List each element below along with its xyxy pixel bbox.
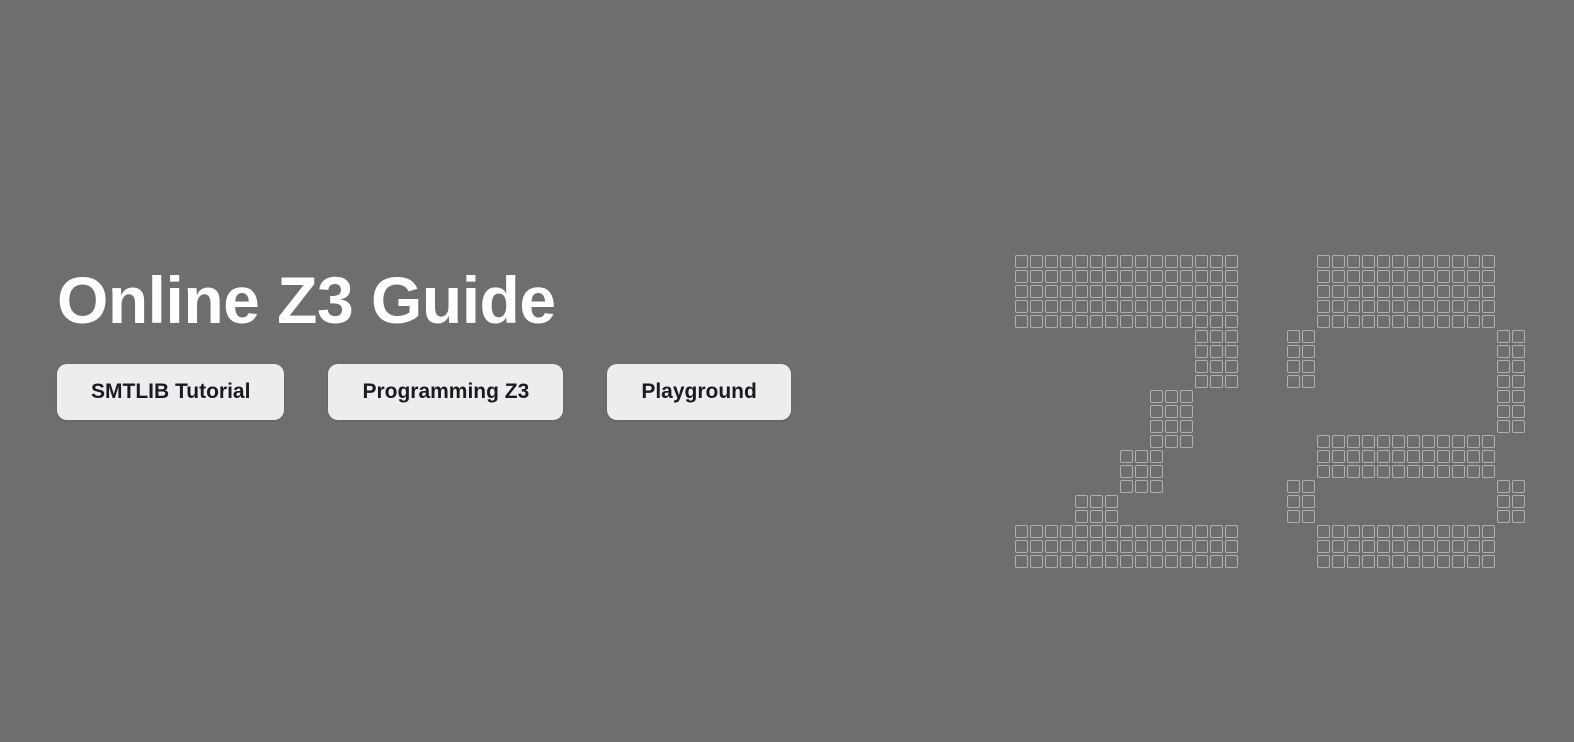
logo-pixel: [1195, 360, 1208, 373]
logo-pixel: [1362, 555, 1375, 568]
logo-pixel: [1332, 465, 1345, 478]
logo-pixel-empty: [1090, 345, 1103, 358]
logo-pixel-empty: [1210, 450, 1223, 463]
logo-pixel-empty: [1437, 495, 1450, 508]
logo-pixel: [1437, 300, 1450, 313]
logo-pixel: [1362, 300, 1375, 313]
logo-pixel-empty: [1120, 405, 1133, 418]
logo-pixel-empty: [1422, 510, 1435, 523]
logo-pixel: [1392, 300, 1405, 313]
logo-pixel: [1225, 345, 1238, 358]
logo-pixel: [1452, 435, 1465, 448]
logo-pixel-empty: [1225, 390, 1238, 403]
logo-pixel-empty: [1452, 360, 1465, 373]
logo-pixel-empty: [1317, 405, 1330, 418]
logo-pixel: [1015, 315, 1028, 328]
logo-pixel-empty: [1452, 375, 1465, 388]
logo-pixel-empty: [1362, 360, 1375, 373]
logo-pixel: [1482, 555, 1495, 568]
logo-pixel: [1347, 525, 1360, 538]
logo-pixel: [1135, 480, 1148, 493]
logo-pixel-empty: [1497, 450, 1510, 463]
logo-pixel: [1512, 405, 1525, 418]
logo-pixel: [1150, 255, 1163, 268]
logo-pixel-empty: [1452, 510, 1465, 523]
logo-pixel: [1090, 555, 1103, 568]
logo-pixel-empty: [1090, 390, 1103, 403]
logo-pixel-empty: [1392, 480, 1405, 493]
logo-pixel: [1392, 315, 1405, 328]
logo-pixel: [1317, 555, 1330, 568]
logo-pixel-empty: [1302, 420, 1315, 433]
logo-pixel: [1150, 435, 1163, 448]
logo-pixel: [1150, 315, 1163, 328]
logo-pixel-empty: [1060, 360, 1073, 373]
logo-pixel: [1392, 540, 1405, 553]
logo-pixel: [1317, 465, 1330, 478]
logo-pixel-empty: [1015, 435, 1028, 448]
logo-pixel-empty: [1105, 360, 1118, 373]
logo-pixel-empty: [1120, 375, 1133, 388]
logo-pixel-empty: [1317, 420, 1330, 433]
logo-pixel-empty: [1347, 390, 1360, 403]
logo-pixel: [1210, 555, 1223, 568]
logo-pixel-empty: [1362, 510, 1375, 523]
logo-pixel: [1287, 330, 1300, 343]
logo-pixel: [1377, 300, 1390, 313]
logo-pixel: [1210, 525, 1223, 538]
logo-glyph-z: [1015, 255, 1240, 570]
logo-pixel: [1422, 525, 1435, 538]
logo-pixel-empty: [1362, 345, 1375, 358]
logo-pixel-empty: [1317, 510, 1330, 523]
logo-pixel: [1075, 315, 1088, 328]
logo-pixel: [1135, 270, 1148, 283]
logo-pixel: [1105, 255, 1118, 268]
logo-pixel-empty: [1030, 390, 1043, 403]
logo-pixel: [1120, 450, 1133, 463]
logo-pixel: [1225, 540, 1238, 553]
logo-pixel: [1120, 255, 1133, 268]
logo-pixel-empty: [1287, 555, 1300, 568]
logo-pixel: [1392, 450, 1405, 463]
logo-pixel: [1135, 300, 1148, 313]
programming-z3-button[interactable]: Programming Z3: [328, 364, 563, 420]
logo-pixel: [1030, 555, 1043, 568]
logo-pixel-empty: [1407, 330, 1420, 343]
logo-pixel-empty: [1075, 480, 1088, 493]
logo-pixel-empty: [1482, 510, 1495, 523]
logo-pixel: [1075, 495, 1088, 508]
logo-pixel-empty: [1377, 510, 1390, 523]
logo-pixel: [1120, 465, 1133, 478]
logo-pixel: [1135, 465, 1148, 478]
logo-pixel-empty: [1422, 375, 1435, 388]
logo-pixel-empty: [1075, 420, 1088, 433]
logo-pixel: [1165, 300, 1178, 313]
logo-pixel: [1225, 360, 1238, 373]
logo-pixel: [1512, 420, 1525, 433]
logo-pixel-empty: [1287, 300, 1300, 313]
logo-pixel-empty: [1467, 420, 1480, 433]
logo-pixel: [1195, 270, 1208, 283]
logo-pixel: [1497, 495, 1510, 508]
logo-pixel-empty: [1105, 375, 1118, 388]
logo-pixel: [1422, 255, 1435, 268]
logo-pixel-empty: [1210, 435, 1223, 448]
logo-pixel: [1180, 285, 1193, 298]
logo-pixel-empty: [1135, 420, 1148, 433]
logo-pixel-empty: [1467, 375, 1480, 388]
logo-pixel-empty: [1120, 495, 1133, 508]
logo-pixel-empty: [1317, 330, 1330, 343]
logo-pixel: [1422, 270, 1435, 283]
logo-pixel-empty: [1105, 465, 1118, 478]
logo-pixel: [1512, 375, 1525, 388]
logo-glyph-z-grid: [1015, 255, 1240, 570]
logo-pixel-empty: [1165, 465, 1178, 478]
logo-pixel: [1105, 510, 1118, 523]
logo-pixel-empty: [1060, 450, 1073, 463]
logo-pixel: [1482, 285, 1495, 298]
logo-pixel-empty: [1497, 315, 1510, 328]
logo-pixel-empty: [1150, 330, 1163, 343]
logo-pixel-empty: [1422, 330, 1435, 343]
logo-pixel-empty: [1302, 255, 1315, 268]
logo-pixel: [1377, 435, 1390, 448]
logo-pixel-empty: [1497, 270, 1510, 283]
logo-pixel: [1225, 270, 1238, 283]
logo-pixel-empty: [1362, 390, 1375, 403]
logo-pixel: [1407, 435, 1420, 448]
logo-pixel: [1497, 360, 1510, 373]
logo-pixel-empty: [1302, 285, 1315, 298]
logo-pixel: [1317, 450, 1330, 463]
logo-pixel: [1165, 255, 1178, 268]
logo-pixel-empty: [1452, 345, 1465, 358]
logo-pixel-empty: [1362, 405, 1375, 418]
logo-pixel-empty: [1302, 315, 1315, 328]
logo-pixel: [1452, 555, 1465, 568]
logo-pixel-empty: [1030, 405, 1043, 418]
logo-pixel-empty: [1407, 345, 1420, 358]
logo-pixel-empty: [1317, 345, 1330, 358]
logo-pixel: [1075, 555, 1088, 568]
logo-pixel-empty: [1060, 420, 1073, 433]
logo-pixel: [1287, 495, 1300, 508]
logo-pixel-empty: [1075, 375, 1088, 388]
logo-pixel-empty: [1512, 285, 1525, 298]
logo-pixel: [1362, 285, 1375, 298]
logo-pixel-empty: [1317, 495, 1330, 508]
logo-pixel-empty: [1512, 300, 1525, 313]
logo-pixel-empty: [1302, 540, 1315, 553]
logo-pixel: [1210, 330, 1223, 343]
logo-pixel: [1045, 540, 1058, 553]
logo-pixel: [1497, 405, 1510, 418]
logo-pixel: [1195, 525, 1208, 538]
logo-pixel-empty: [1362, 330, 1375, 343]
logo-pixel-empty: [1165, 345, 1178, 358]
logo-pixel: [1452, 315, 1465, 328]
logo-pixel: [1422, 540, 1435, 553]
logo-pixel: [1347, 255, 1360, 268]
logo-pixel: [1377, 255, 1390, 268]
logo-pixel-empty: [1362, 375, 1375, 388]
logo-pixel-empty: [1225, 495, 1238, 508]
logo-pixel: [1422, 285, 1435, 298]
logo-pixel: [1332, 315, 1345, 328]
logo-pixel: [1075, 285, 1088, 298]
logo-pixel-empty: [1332, 405, 1345, 418]
logo-pixel: [1075, 300, 1088, 313]
logo-pixel: [1392, 270, 1405, 283]
logo-pixel-empty: [1437, 375, 1450, 388]
logo-pixel-empty: [1437, 390, 1450, 403]
logo-pixel: [1105, 525, 1118, 538]
logo-pixel-empty: [1407, 390, 1420, 403]
logo-pixel-empty: [1452, 390, 1465, 403]
logo-pixel-empty: [1105, 450, 1118, 463]
logo-pixel-empty: [1347, 420, 1360, 433]
logo-pixel: [1090, 315, 1103, 328]
logo-pixel-empty: [1452, 495, 1465, 508]
logo-pixel-empty: [1407, 510, 1420, 523]
logo-pixel-empty: [1497, 285, 1510, 298]
logo-pixel: [1225, 285, 1238, 298]
logo-pixel-empty: [1392, 375, 1405, 388]
logo-pixel-empty: [1407, 405, 1420, 418]
logo-pixel: [1030, 270, 1043, 283]
logo-pixel: [1150, 555, 1163, 568]
logo-pixel: [1392, 285, 1405, 298]
logo-pixel: [1437, 435, 1450, 448]
logo-pixel-empty: [1225, 405, 1238, 418]
logo-pixel: [1060, 285, 1073, 298]
logo-pixel-empty: [1287, 390, 1300, 403]
logo-pixel-empty: [1195, 420, 1208, 433]
logo-pixel-empty: [1362, 420, 1375, 433]
logo-pixel: [1437, 285, 1450, 298]
logo-pixel-empty: [1045, 480, 1058, 493]
logo-pixel-empty: [1437, 345, 1450, 358]
logo-pixel-empty: [1392, 510, 1405, 523]
logo-pixel: [1407, 270, 1420, 283]
logo-pixel-empty: [1135, 375, 1148, 388]
logo-pixel-empty: [1015, 345, 1028, 358]
logo-pixel-empty: [1422, 345, 1435, 358]
hero-text-block: Online Z3 Guide SMTLIB Tutorial Programm…: [57, 258, 957, 420]
logo-pixel-empty: [1135, 360, 1148, 373]
logo-pixel-empty: [1225, 480, 1238, 493]
hero-section: Online Z3 Guide SMTLIB Tutorial Programm…: [0, 0, 1574, 742]
logo-pixel: [1317, 285, 1330, 298]
logo-pixel: [1437, 255, 1450, 268]
logo-pixel: [1180, 315, 1193, 328]
logo-pixel: [1180, 255, 1193, 268]
logo-pixel: [1332, 270, 1345, 283]
logo-pixel-empty: [1030, 450, 1043, 463]
logo-pixel-empty: [1317, 390, 1330, 403]
logo-pixel-empty: [1030, 360, 1043, 373]
logo-pixel-empty: [1060, 405, 1073, 418]
logo-pixel-empty: [1347, 510, 1360, 523]
logo-pixel-empty: [1135, 345, 1148, 358]
logo-pixel-empty: [1060, 495, 1073, 508]
logo-pixel: [1090, 510, 1103, 523]
logo-pixel: [1105, 540, 1118, 553]
logo-pixel-empty: [1467, 405, 1480, 418]
logo-pixel: [1150, 525, 1163, 538]
logo-pixel-empty: [1332, 420, 1345, 433]
logo-pixel: [1332, 255, 1345, 268]
logo-pixel-empty: [1302, 270, 1315, 283]
logo-pixel: [1287, 345, 1300, 358]
logo-pixel: [1377, 525, 1390, 538]
cta-button-row: SMTLIB Tutorial Programming Z3 Playgroun…: [57, 364, 957, 420]
logo-pixel: [1150, 390, 1163, 403]
logo-pixel: [1015, 255, 1028, 268]
smtlib-tutorial-button[interactable]: SMTLIB Tutorial: [57, 364, 284, 420]
logo-pixel: [1422, 465, 1435, 478]
logo-pixel-empty: [1287, 450, 1300, 463]
logo-pixel: [1225, 315, 1238, 328]
logo-pixel: [1347, 540, 1360, 553]
playground-button[interactable]: Playground: [607, 364, 791, 420]
logo-pixel-empty: [1317, 360, 1330, 373]
logo-pixel: [1165, 285, 1178, 298]
logo-pixel-empty: [1015, 330, 1028, 343]
logo-pixel: [1150, 540, 1163, 553]
logo-pixel-empty: [1045, 405, 1058, 418]
logo-pixel: [1105, 495, 1118, 508]
logo-pixel-empty: [1015, 390, 1028, 403]
logo-pixel: [1090, 255, 1103, 268]
logo-pixel: [1225, 375, 1238, 388]
logo-pixel: [1105, 315, 1118, 328]
logo-pixel-empty: [1210, 420, 1223, 433]
logo-pixel-empty: [1210, 510, 1223, 523]
logo-pixel-empty: [1512, 555, 1525, 568]
logo-pixel: [1060, 555, 1073, 568]
logo-pixel: [1120, 315, 1133, 328]
logo-pixel: [1210, 270, 1223, 283]
logo-pixel-empty: [1225, 465, 1238, 478]
logo-pixel-empty: [1452, 405, 1465, 418]
logo-pixel-empty: [1060, 480, 1073, 493]
logo-pixel-empty: [1090, 435, 1103, 448]
logo-pixel-empty: [1180, 495, 1193, 508]
logo-pixel-empty: [1497, 255, 1510, 268]
logo-pixel-empty: [1135, 390, 1148, 403]
logo-pixel: [1317, 525, 1330, 538]
logo-pixel: [1105, 285, 1118, 298]
logo-pixel-empty: [1045, 390, 1058, 403]
logo-pixel: [1165, 270, 1178, 283]
logo-pixel: [1497, 345, 1510, 358]
logo-pixel: [1105, 555, 1118, 568]
logo-pixel: [1075, 270, 1088, 283]
logo-pixel-empty: [1422, 360, 1435, 373]
logo-pixel: [1347, 285, 1360, 298]
logo-pixel-empty: [1045, 435, 1058, 448]
logo-pixel-empty: [1045, 330, 1058, 343]
logo-pixel: [1467, 540, 1480, 553]
logo-pixel: [1210, 285, 1223, 298]
logo-pixel: [1225, 330, 1238, 343]
logo-pixel: [1317, 540, 1330, 553]
logo-pixel-empty: [1332, 360, 1345, 373]
logo-pixel: [1302, 480, 1315, 493]
logo-pixel-empty: [1287, 315, 1300, 328]
logo-pixel-empty: [1437, 420, 1450, 433]
logo-pixel: [1165, 555, 1178, 568]
logo-pixel-empty: [1030, 345, 1043, 358]
logo-pixel-empty: [1225, 420, 1238, 433]
logo-pixel: [1060, 300, 1073, 313]
logo-pixel-empty: [1482, 375, 1495, 388]
logo-pixel-empty: [1362, 480, 1375, 493]
logo-pixel: [1482, 435, 1495, 448]
logo-pixel: [1467, 555, 1480, 568]
logo-pixel-empty: [1377, 375, 1390, 388]
logo-pixel: [1362, 435, 1375, 448]
logo-pixel-empty: [1287, 285, 1300, 298]
logo-pixel: [1512, 330, 1525, 343]
logo-pixel: [1362, 450, 1375, 463]
logo-pixel-empty: [1287, 540, 1300, 553]
logo-pixel-empty: [1030, 480, 1043, 493]
logo-pixel: [1210, 360, 1223, 373]
logo-pixel-empty: [1195, 510, 1208, 523]
logo-pixel: [1120, 525, 1133, 538]
logo-pixel: [1075, 255, 1088, 268]
logo-pixel-empty: [1512, 450, 1525, 463]
logo-pixel: [1210, 540, 1223, 553]
logo-pixel: [1392, 555, 1405, 568]
logo-pixel-empty: [1392, 390, 1405, 403]
logo-pixel: [1482, 270, 1495, 283]
logo-pixel-empty: [1045, 360, 1058, 373]
logo-pixel-empty: [1482, 330, 1495, 343]
logo-pixel-empty: [1090, 375, 1103, 388]
logo-pixel: [1347, 300, 1360, 313]
logo-pixel: [1362, 270, 1375, 283]
logo-pixel-empty: [1015, 375, 1028, 388]
logo-pixel: [1332, 450, 1345, 463]
logo-pixel: [1452, 255, 1465, 268]
logo-pixel-empty: [1030, 420, 1043, 433]
logo-pixel: [1135, 285, 1148, 298]
logo-pixel-empty: [1075, 360, 1088, 373]
logo-pixel-empty: [1225, 435, 1238, 448]
logo-pixel-empty: [1165, 480, 1178, 493]
logo-pixel-empty: [1210, 480, 1223, 493]
logo-pixel-empty: [1060, 510, 1073, 523]
logo-pixel-empty: [1407, 360, 1420, 373]
logo-pixel-empty: [1422, 390, 1435, 403]
logo-pixel: [1422, 300, 1435, 313]
logo-pixel-empty: [1120, 435, 1133, 448]
logo-pixel-empty: [1060, 435, 1073, 448]
logo-pixel: [1482, 300, 1495, 313]
logo-pixel-empty: [1075, 390, 1088, 403]
logo-pixel: [1120, 480, 1133, 493]
logo-pixel: [1105, 300, 1118, 313]
logo-pixel: [1422, 315, 1435, 328]
logo-pixel: [1210, 315, 1223, 328]
logo-pixel: [1482, 525, 1495, 538]
